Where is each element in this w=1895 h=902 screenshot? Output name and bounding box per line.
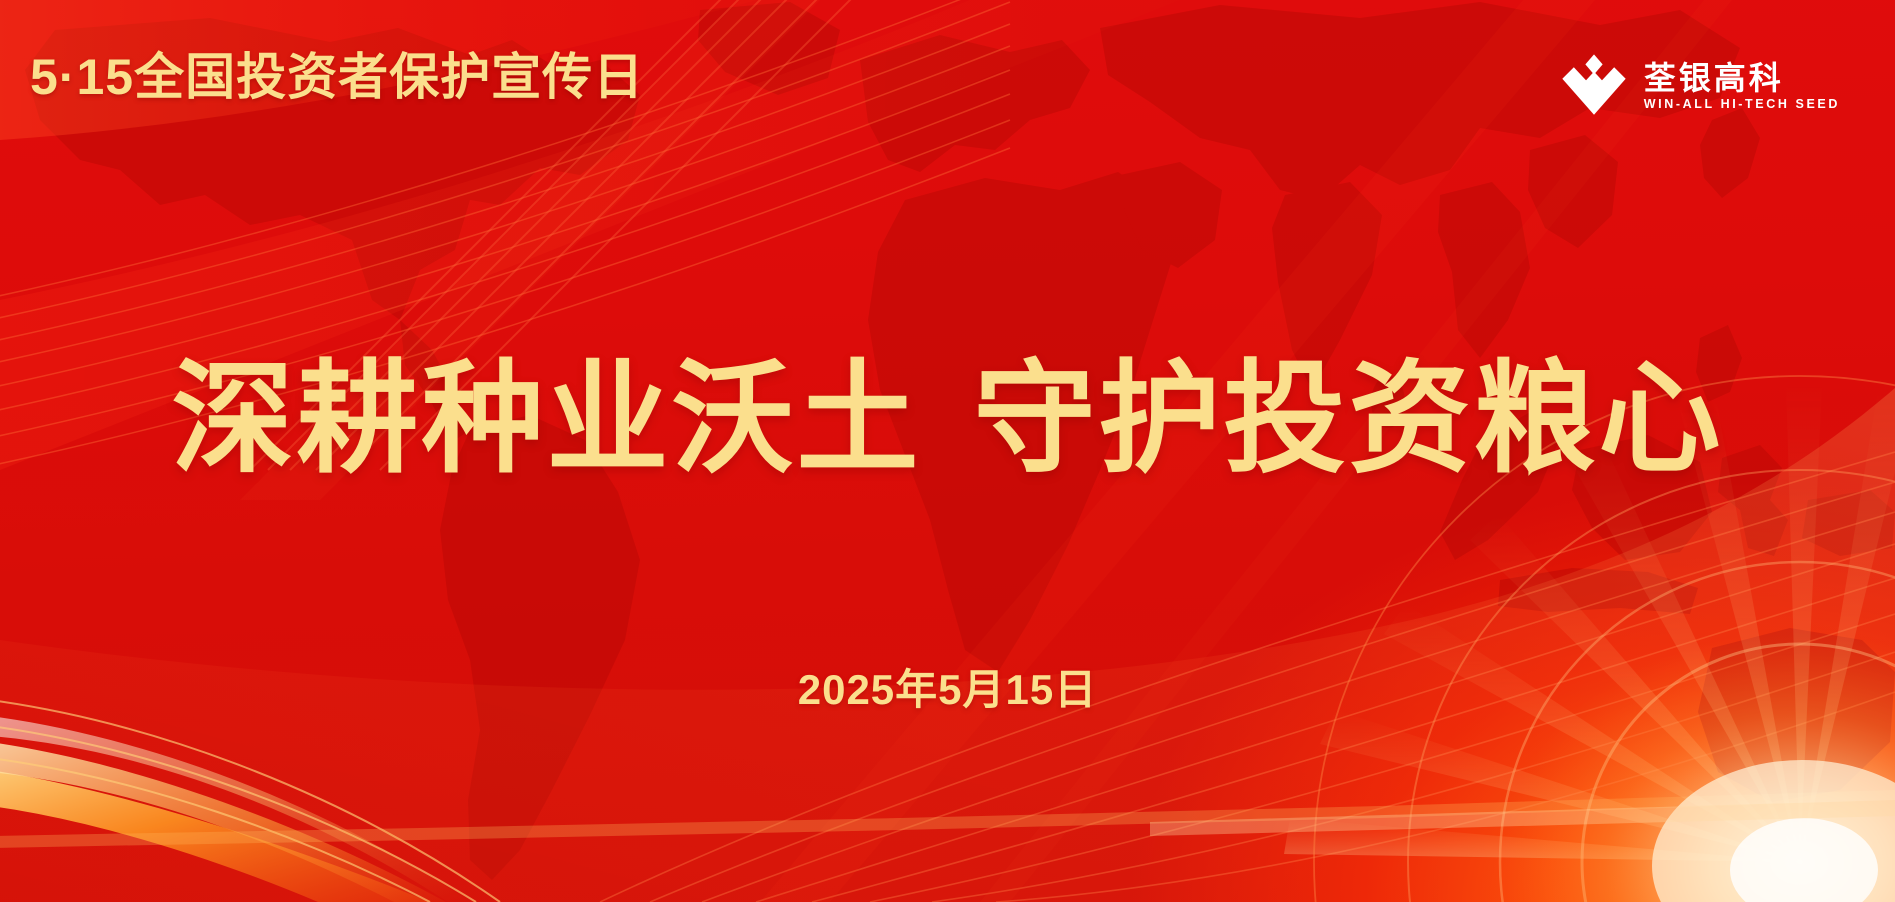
chevron-diamond-logo-icon [1558, 50, 1630, 122]
logo-chinese-name: 荃银高科 [1644, 62, 1784, 96]
logo-english-name: WIN-ALL HI-TECH SEED [1644, 98, 1840, 111]
slogan-right-phrase: 守护投资粮心 [974, 351, 1724, 487]
company-logo: 荃银高科 WIN-ALL HI-TECH SEED [1558, 50, 1840, 122]
investor-protection-banner: 5·15全国投资者保护宣传日 荃银高科 WIN-ALL HI-TECH SEED… [0, 0, 1895, 902]
event-date: 2025年5月15日 [0, 656, 1895, 717]
campaign-header-title: 5·15全国投资者保护宣传日 [30, 52, 644, 102]
logo-text-block: 荃银高科 WIN-ALL HI-TECH SEED [1644, 62, 1840, 110]
slogan-left-phrase: 深耕种业沃土 [172, 351, 922, 487]
main-slogan: 深耕种业沃土守护投资粮心 [0, 352, 1895, 486]
